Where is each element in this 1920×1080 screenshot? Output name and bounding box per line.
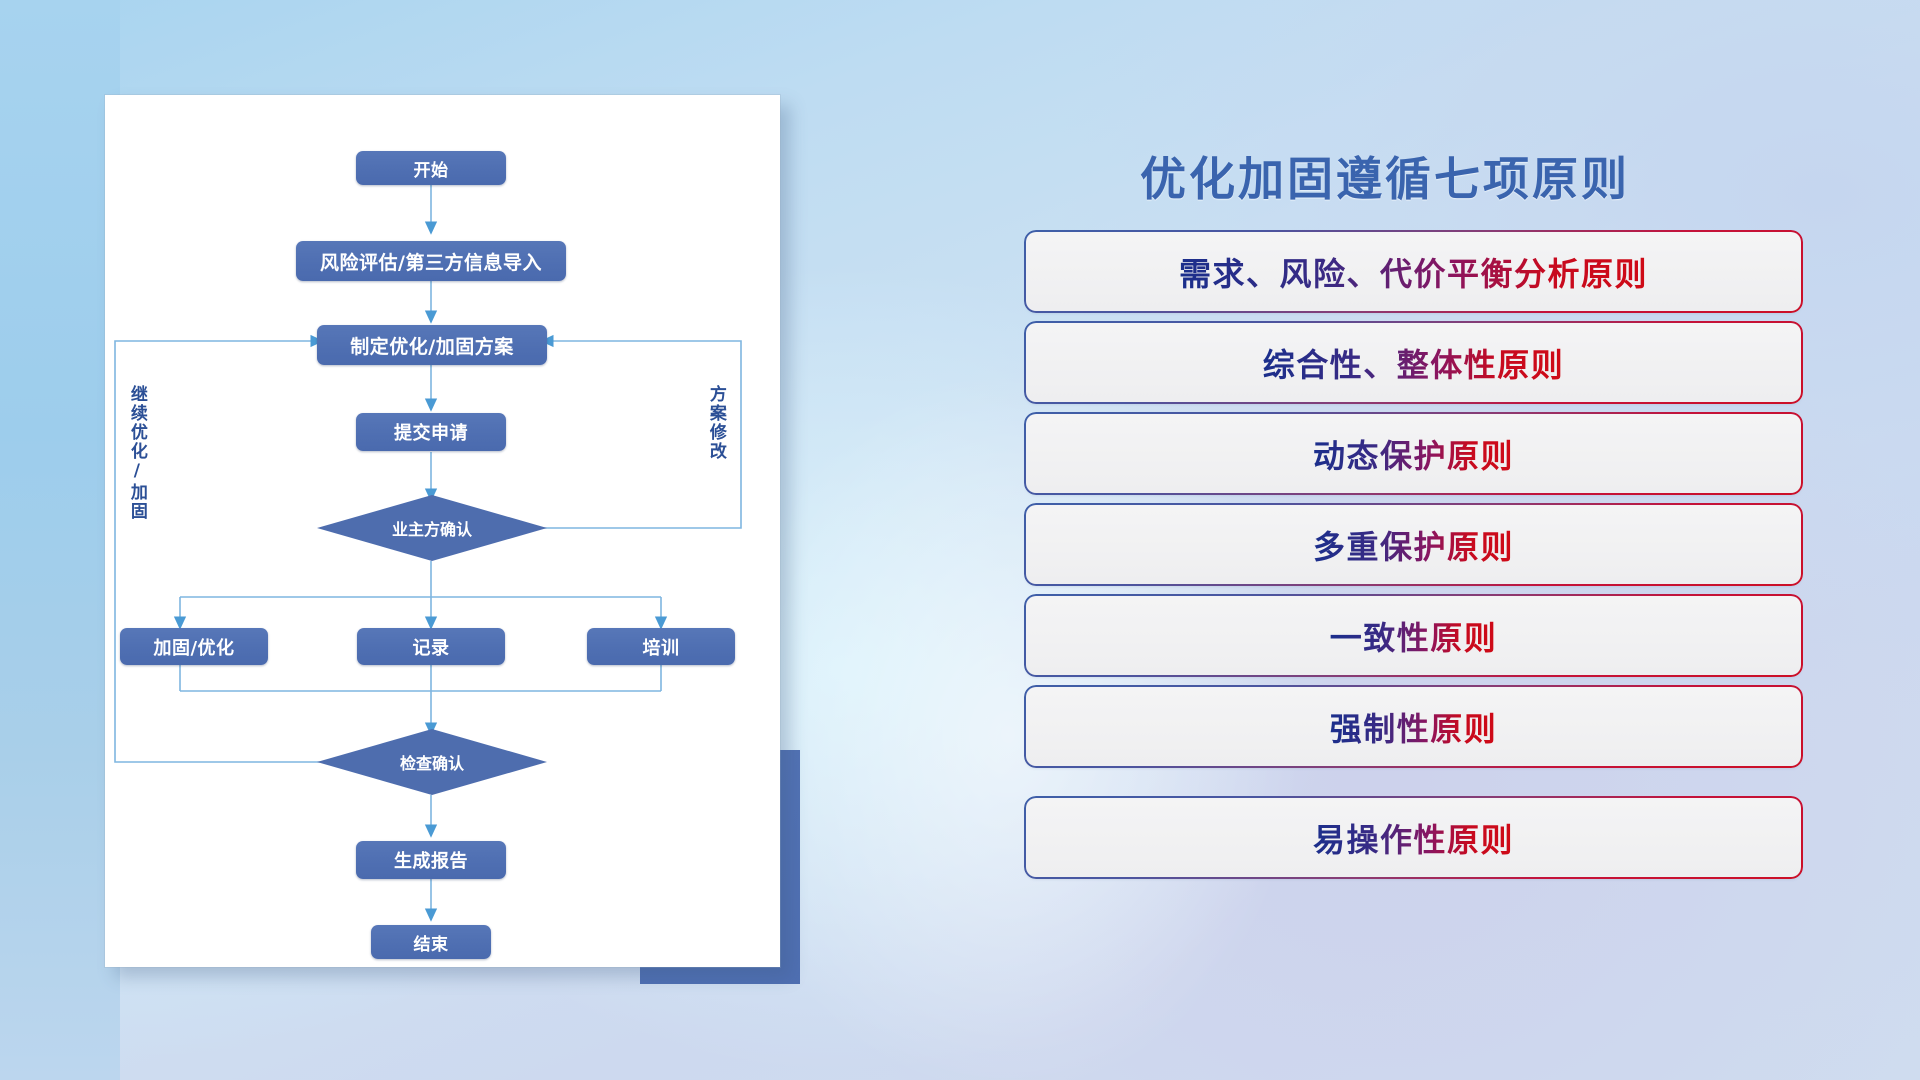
flow-node-record: 记录 bbox=[357, 628, 505, 665]
flow-node-check-confirm-label: 检查确认 bbox=[400, 750, 464, 774]
flow-node-risk-assessment-label: 风险评估/第三方信息导入 bbox=[320, 248, 542, 275]
flow-node-reinforce-label: 加固/优化 bbox=[153, 634, 234, 660]
flow-node-submit: 提交申请 bbox=[356, 413, 506, 451]
flow-node-report-label: 生成报告 bbox=[394, 847, 468, 873]
flow-node-record-label: 记录 bbox=[413, 634, 450, 660]
flow-node-submit-label: 提交申请 bbox=[394, 419, 468, 445]
flow-node-training: 培训 bbox=[587, 628, 735, 665]
principle-item-5-label: 一致性原则 bbox=[1330, 613, 1498, 659]
flow-edge-label-left: 继续优化/加固 bbox=[127, 385, 145, 521]
principle-item-4[interactable]: 多重保护原则 bbox=[1026, 505, 1801, 584]
panel-title: 优化加固遵循七项原则 bbox=[850, 143, 1920, 209]
principle-item-1[interactable]: 需求、风险、代价平衡分析原则 bbox=[1026, 232, 1801, 311]
principle-item-5[interactable]: 一致性原则 bbox=[1026, 596, 1801, 675]
flow-node-risk-assessment: 风险评估/第三方信息导入 bbox=[296, 241, 566, 281]
flowchart-card: 开始 风险评估/第三方信息导入 制定优化/加固方案 提交申请 业主方确认 加固/… bbox=[105, 95, 780, 967]
flow-edge-label-right: 方案修改 bbox=[706, 385, 724, 461]
flow-node-plan: 制定优化/加固方案 bbox=[317, 325, 547, 365]
principle-item-6-label: 强制性原则 bbox=[1330, 704, 1498, 750]
principle-item-3[interactable]: 动态保护原则 bbox=[1026, 414, 1801, 493]
flow-node-owner-confirm-label: 业主方确认 bbox=[392, 516, 472, 540]
flow-node-start: 开始 bbox=[356, 151, 506, 185]
flow-node-end: 结束 bbox=[371, 925, 491, 959]
principle-item-2-label: 综合性、整体性原则 bbox=[1263, 340, 1565, 386]
principle-item-4-label: 多重保护原则 bbox=[1313, 522, 1514, 568]
flow-node-start-label: 开始 bbox=[414, 156, 449, 181]
flow-node-plan-label: 制定优化/加固方案 bbox=[350, 332, 513, 359]
flow-node-end-label: 结束 bbox=[414, 930, 449, 955]
flow-node-training-label: 培训 bbox=[643, 634, 680, 660]
principle-item-1-label: 需求、风险、代价平衡分析原则 bbox=[1179, 249, 1648, 295]
principle-item-2[interactable]: 综合性、整体性原则 bbox=[1026, 323, 1801, 402]
principle-item-6[interactable]: 强制性原则 bbox=[1026, 687, 1801, 766]
principle-item-7[interactable]: 易操作性原则 bbox=[1026, 798, 1801, 877]
principles-panel: 优化加固遵循七项原则 需求、风险、代价平衡分析原则 综合性、整体性原则 动态保护… bbox=[850, 0, 1920, 1080]
flow-node-reinforce: 加固/优化 bbox=[120, 628, 268, 665]
principle-item-7-label: 易操作性原则 bbox=[1313, 815, 1514, 861]
principle-item-3-label: 动态保护原则 bbox=[1313, 431, 1514, 477]
flow-node-report: 生成报告 bbox=[356, 841, 506, 879]
background-left-band bbox=[0, 0, 120, 1080]
